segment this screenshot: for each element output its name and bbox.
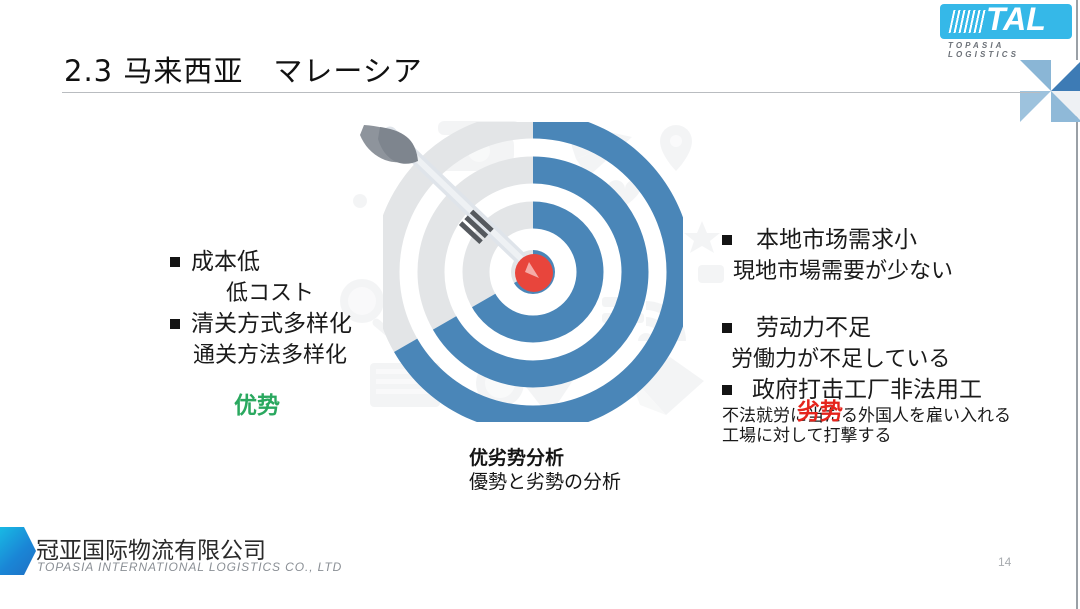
slide-canvas: TAL TOPASIA LOGISTICS 2.3 马来西亚 マレーシア — [0, 0, 1080, 609]
disadvantage-cn-1: 本地市场需求小 — [743, 225, 917, 256]
bullet-square-icon — [722, 235, 732, 245]
disadvantage-cn-3: 政府打击工厂非法用工 — [743, 375, 982, 406]
caption-cn: 优劣势分析 — [469, 446, 621, 470]
hexagon-logo-icon — [0, 527, 36, 575]
advantages-heading: 优势 — [234, 386, 280, 420]
advantage-cn-1: 成本低 — [191, 247, 260, 278]
list-item: 清关方式多样化 — [170, 309, 410, 340]
barcode-stripes-icon — [949, 10, 987, 33]
bullet-square-icon — [170, 319, 180, 329]
bullet-square-icon — [722, 385, 732, 395]
bullet-square-icon — [722, 323, 732, 333]
bullet-square-icon — [170, 257, 180, 267]
disadvantage-jp-2: 労働力が不足している — [722, 344, 1022, 375]
tal-logo-word: TAL — [986, 4, 1046, 38]
tal-logo-badge: TAL — [940, 4, 1072, 39]
list-item: 政府打击工厂非法用工 — [722, 375, 1022, 406]
list-item: 劳动力不足 — [722, 313, 1022, 344]
advantage-jp-1: 低コスト — [170, 278, 370, 309]
disadvantages-heading: 劣势 — [797, 392, 843, 426]
disadvantage-cn-2: 劳动力不足 — [743, 313, 871, 344]
disadvantage-jp-3: 不法就労に当たる外国人を雇い入れる 工場に対して打撃する — [722, 406, 1022, 446]
advantages-block: 成本低 低コスト 清关方式多样化 通关方法多样化 — [170, 247, 410, 371]
caption-jp: 優勢と劣勢の分析 — [469, 470, 621, 494]
disadvantage-jp-1: 現地市場需要が少ない — [722, 256, 1022, 287]
page-number: 14 — [998, 555, 1011, 569]
disadvantages-block: 本地市场需求小 現地市場需要が少ない 劳动力不足 労働力が不足している 政府打击… — [722, 225, 1022, 446]
footer-company-en: TOPASIA INTERNATIONAL LOGISTICS CO., LTD — [37, 560, 342, 574]
page-title: 2.3 马来西亚 マレーシア — [64, 48, 423, 90]
header-divider — [62, 92, 1040, 93]
target-center-dot — [513, 252, 555, 294]
pinwheel-decoration-icon — [1020, 60, 1080, 122]
center-graphic-caption: 优劣势分析 優勢と劣勢の分析 — [469, 446, 621, 494]
list-item: 本地市场需求小 — [722, 225, 1022, 256]
tal-logo: TAL TOPASIA LOGISTICS — [938, 4, 1074, 54]
advantage-jp-2: 通关方法多样化 — [170, 340, 370, 371]
advantage-cn-2: 清关方式多样化 — [191, 309, 352, 340]
tal-logo-subtitle: TOPASIA LOGISTICS — [948, 41, 1074, 59]
list-item: 成本低 — [170, 247, 410, 278]
